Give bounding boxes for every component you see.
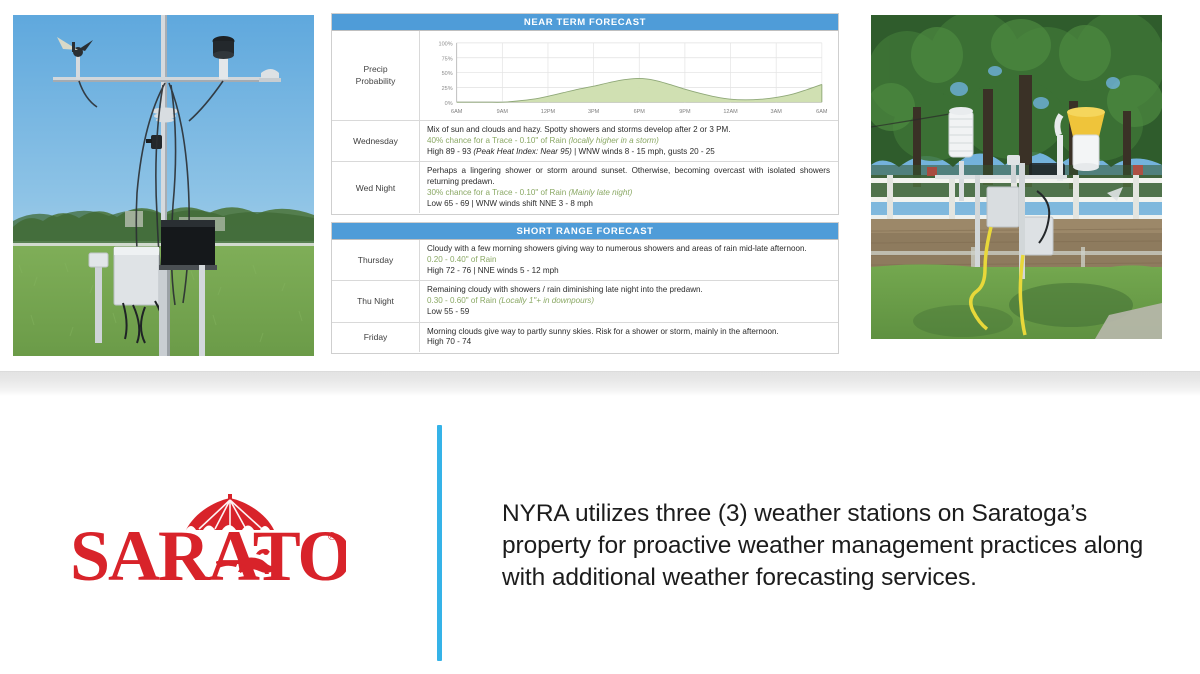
- chart-ytick-label: 50%: [442, 71, 453, 77]
- forecast-day-label: Wed Night: [332, 162, 420, 213]
- forecast-line: High 72 - 76 | NNE winds 5 - 12 mph: [427, 266, 830, 277]
- forecast-line-note: (Peak Heat Index: Near 95): [473, 147, 572, 156]
- chart-xtick-label: 6PM: [634, 109, 646, 115]
- forecast-row: FridayMorning clouds give way to partly …: [332, 323, 838, 353]
- chart-xtick-label: 12PM: [541, 109, 556, 115]
- near-term-forecast-panel: NEAR TERM FORECAST PrecipProbability 0%2…: [331, 13, 839, 215]
- forecast-line: 0.20 - 0.40" of Rain: [427, 255, 830, 266]
- forecast-line: Mix of sun and clouds and hazy. Spotty s…: [427, 125, 830, 136]
- chart-ytick-label: 25%: [442, 86, 453, 92]
- chart-xtick-label: 9PM: [679, 109, 691, 115]
- forecast-row: WednesdayMix of sun and clouds and hazy.…: [332, 121, 838, 162]
- top-content-area: NEAR TERM FORECAST PrecipProbability 0%2…: [0, 0, 1200, 372]
- forecast-line: Low 55 - 59: [427, 307, 830, 318]
- chart-xtick-label: 6AM: [451, 109, 463, 115]
- chart-xtick-label: 9AM: [497, 109, 509, 115]
- short-range-forecast-panel: SHORT RANGE FORECAST ThursdayCloudy with…: [331, 222, 839, 354]
- forecast-line: Remaining cloudy with showers / rain dim…: [427, 285, 830, 296]
- registered-trademark-mark: ®: [328, 531, 336, 543]
- precip-probability-chart-row: PrecipProbability 0%25%50%75%100%6AM9AM1…: [332, 31, 838, 121]
- short-range-forecast-header: SHORT RANGE FORECAST: [332, 223, 838, 240]
- forecast-detail: Perhaps a lingering shower or storm arou…: [420, 162, 838, 213]
- chart-xtick-label: 3AM: [771, 109, 783, 115]
- near-term-rows: WednesdayMix of sun and clouds and hazy.…: [332, 121, 838, 213]
- slide: NEAR TERM FORECAST PrecipProbability 0%2…: [0, 0, 1200, 674]
- forecast-line: 0.30 - 0.60" of Rain (Locally 1"+ in dow…: [427, 296, 830, 307]
- chart-ytick-label: 100%: [439, 42, 453, 48]
- chart-xtick-label: 3PM: [588, 109, 600, 115]
- precip-probability-label: PrecipProbability: [332, 31, 420, 120]
- chart-ytick-label: 0%: [445, 101, 453, 107]
- weather-station-mast-photo: [10, 12, 317, 359]
- saratoga-wordmark: SARATOGA: [70, 516, 346, 592]
- forecast-line: High 89 - 93 (Peak Heat Index: Near 95) …: [427, 147, 830, 158]
- forecast-row: Thu NightRemaining cloudy with showers /…: [332, 281, 838, 322]
- chart-xtick-label: 6AM: [816, 109, 828, 115]
- precip-probability-chart-svg: 0%25%50%75%100%6AM9AM12PM3PM6PM9PM12AM3A…: [422, 35, 830, 118]
- section-divider-band: [0, 372, 1200, 396]
- saratoga-logo: SARATOGA ®: [66, 492, 346, 592]
- forecast-detail: Mix of sun and clouds and hazy. Spotty s…: [420, 121, 838, 161]
- forecast-line: High 70 - 74: [427, 337, 830, 348]
- forecast-line-note: (locally higher in a storm): [568, 136, 658, 145]
- forecast-detail: Cloudy with a few morning showers giving…: [420, 240, 838, 280]
- forecast-line-note: (Mainly late night): [568, 188, 632, 197]
- forecast-day-label: Thursday: [332, 240, 420, 280]
- precip-probability-label-text: PrecipProbability: [356, 64, 396, 87]
- forecast-row: ThursdayCloudy with a few morning shower…: [332, 240, 838, 281]
- near-term-forecast-header: NEAR TERM FORECAST: [332, 14, 838, 31]
- forecast-line: 40% chance for a Trace - 0.10" of Rain (…: [427, 136, 830, 147]
- forecast-detail: Remaining cloudy with showers / rain dim…: [420, 281, 838, 321]
- forecast-line: Perhaps a lingering shower or storm arou…: [427, 166, 830, 188]
- weather-station-fenceline-photo: [868, 12, 1165, 342]
- chart-xtick-label: 12AM: [723, 109, 738, 115]
- forecast-day-label: Wednesday: [332, 121, 420, 161]
- forecast-line-note: (Locally 1"+ in downpours): [499, 296, 594, 305]
- short-range-rows: ThursdayCloudy with a few morning shower…: [332, 240, 838, 352]
- forecast-row: Wed NightPerhaps a lingering shower or s…: [332, 162, 838, 213]
- forecast-line: 30% chance for a Trace - 0.10" of Rain (…: [427, 188, 830, 199]
- forecast-line: Cloudy with a few morning showers giving…: [427, 244, 830, 255]
- forecast-day-label: Friday: [332, 323, 420, 353]
- statement-text: NYRA utilizes three (3) weather stations…: [502, 498, 1150, 594]
- chart-ytick-label: 75%: [442, 56, 453, 62]
- accent-bar: [437, 425, 442, 661]
- forecast-detail: Morning clouds give way to partly sunny …: [420, 323, 838, 353]
- forecast-line: Low 65 - 69 | WNW winds shift NNE 3 - 8 …: [427, 199, 830, 210]
- precip-probability-chart: 0%25%50%75%100%6AM9AM12PM3PM6PM9PM12AM3A…: [420, 31, 838, 120]
- forecast-day-label: Thu Night: [332, 281, 420, 321]
- forecast-line: Morning clouds give way to partly sunny …: [427, 327, 830, 338]
